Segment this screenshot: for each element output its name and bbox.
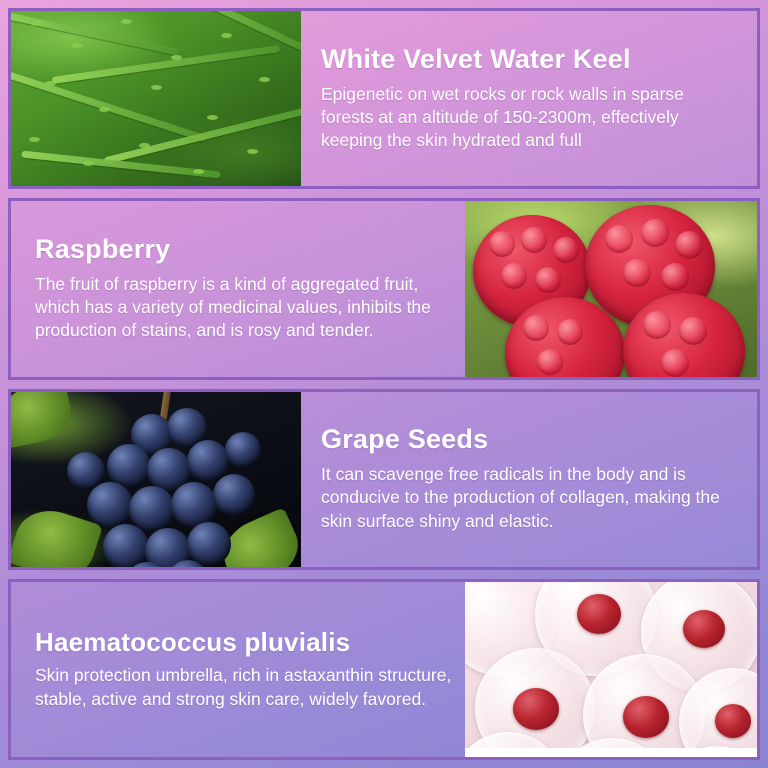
card-text-haematococcus-pluvialis: Haematococcus pluvialis Skin protection … xyxy=(11,582,465,757)
grape-image xyxy=(11,392,301,567)
card-description: The fruit of raspberry is a kind of aggr… xyxy=(35,273,453,343)
card-text-raspberry: Raspberry The fruit of raspberry is a ki… xyxy=(11,201,465,376)
card-title: Raspberry xyxy=(35,235,453,265)
card-description: It can scavenge free radicals in the bod… xyxy=(321,463,741,533)
ingredient-card-grape-seeds: Grape Seeds It can scavenge free radical… xyxy=(8,389,760,570)
haematococcus-artwork xyxy=(465,582,757,757)
haematococcus-image xyxy=(465,582,757,757)
card-description: Skin protection umbrella, rich in astaxa… xyxy=(35,664,453,711)
ingredient-card-white-velvet-water-keel: White Velvet Water Keel Epigenetic on we… xyxy=(8,8,760,189)
card-title: Haematococcus pluvialis xyxy=(35,628,453,657)
ingredient-card-raspberry: Raspberry The fruit of raspberry is a ki… xyxy=(8,198,760,379)
ingredient-benefits-infographic: White Velvet Water Keel Epigenetic on we… xyxy=(0,0,768,768)
card-text-grape-seeds: Grape Seeds It can scavenge free radical… xyxy=(301,392,757,567)
image-bottom-strip xyxy=(465,748,757,757)
grape-artwork xyxy=(11,392,301,567)
card-description: Epigenetic on wet rocks or rock walls in… xyxy=(321,83,741,153)
ingredient-card-haematococcus-pluvialis: Haematococcus pluvialis Skin protection … xyxy=(8,579,760,760)
raspberry-image xyxy=(465,201,757,376)
card-text-white-velvet-water-keel: White Velvet Water Keel Epigenetic on we… xyxy=(301,11,757,186)
fern-image xyxy=(11,11,301,186)
fern-artwork xyxy=(11,11,301,186)
raspberry-artwork xyxy=(465,201,757,376)
card-title: Grape Seeds xyxy=(321,425,741,455)
card-title: White Velvet Water Keel xyxy=(321,45,741,75)
